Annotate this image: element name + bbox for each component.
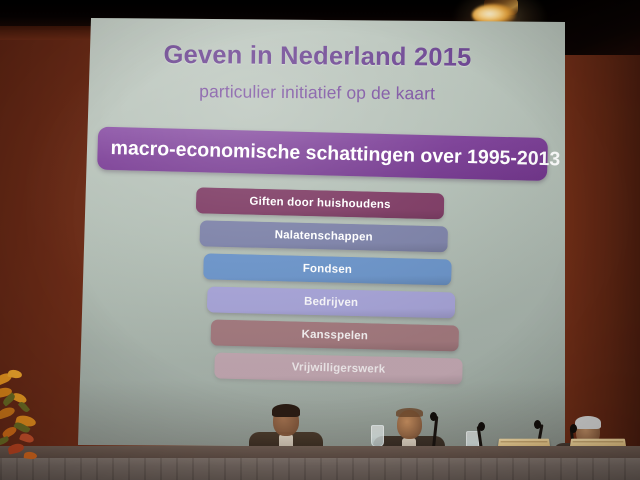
microphone-head-icon [430, 412, 437, 421]
category-bar-label: Kansspelen [301, 329, 368, 343]
flower-leaf [0, 436, 10, 446]
table-skirt-folds [0, 458, 640, 480]
flower-petal [7, 442, 25, 454]
flower-arrangement [0, 368, 66, 480]
panelist-hair [396, 408, 423, 417]
slide-banner: macro-economische schattingen over 1995-… [97, 127, 548, 181]
category-bar-label: Giften door huishoudens [249, 196, 391, 211]
microphone-head-icon [534, 420, 541, 429]
panel-table-area [0, 398, 640, 480]
category-bar-label: Vrijwilligerswerk [292, 361, 386, 375]
category-bar: Vrijwilligerswerk [214, 352, 463, 384]
category-bar: Kansspelen [211, 319, 460, 351]
panelist-hair [272, 404, 300, 417]
category-bar: Fondsen [203, 253, 452, 285]
category-bar-list: Giften door huishoudensNalatenschappenFo… [76, 188, 566, 193]
category-bar: Giften door huishoudens [196, 187, 445, 219]
category-bar-label: Bedrijven [304, 296, 358, 309]
flower-petal [19, 432, 35, 444]
flower-leaf [18, 400, 30, 413]
projection-screen: Geven in Nederland 2015 particulier init… [78, 2, 568, 450]
panelist-hair [575, 416, 601, 429]
category-bar-label: Fondsen [303, 263, 353, 276]
slide-content: Geven in Nederland 2015 particulier init… [74, 2, 568, 455]
flower-petal [0, 406, 16, 420]
category-bar-label: Nalatenschappen [275, 229, 373, 243]
slide-banner-label: macro-economische schattingen over 1995-… [97, 137, 560, 172]
category-bar: Bedrijven [207, 286, 456, 318]
slide-title: Geven in Nederland 2015 [77, 40, 557, 74]
microphone-head-icon [478, 422, 485, 431]
flower-petal [24, 451, 38, 460]
category-bar: Nalatenschappen [199, 220, 448, 252]
microphone-head-icon [570, 424, 577, 433]
presentation-photo-scene: Geven in Nederland 2015 particulier init… [0, 0, 640, 480]
slide-subtitle: particulier initiatief op de kaart [77, 80, 557, 106]
